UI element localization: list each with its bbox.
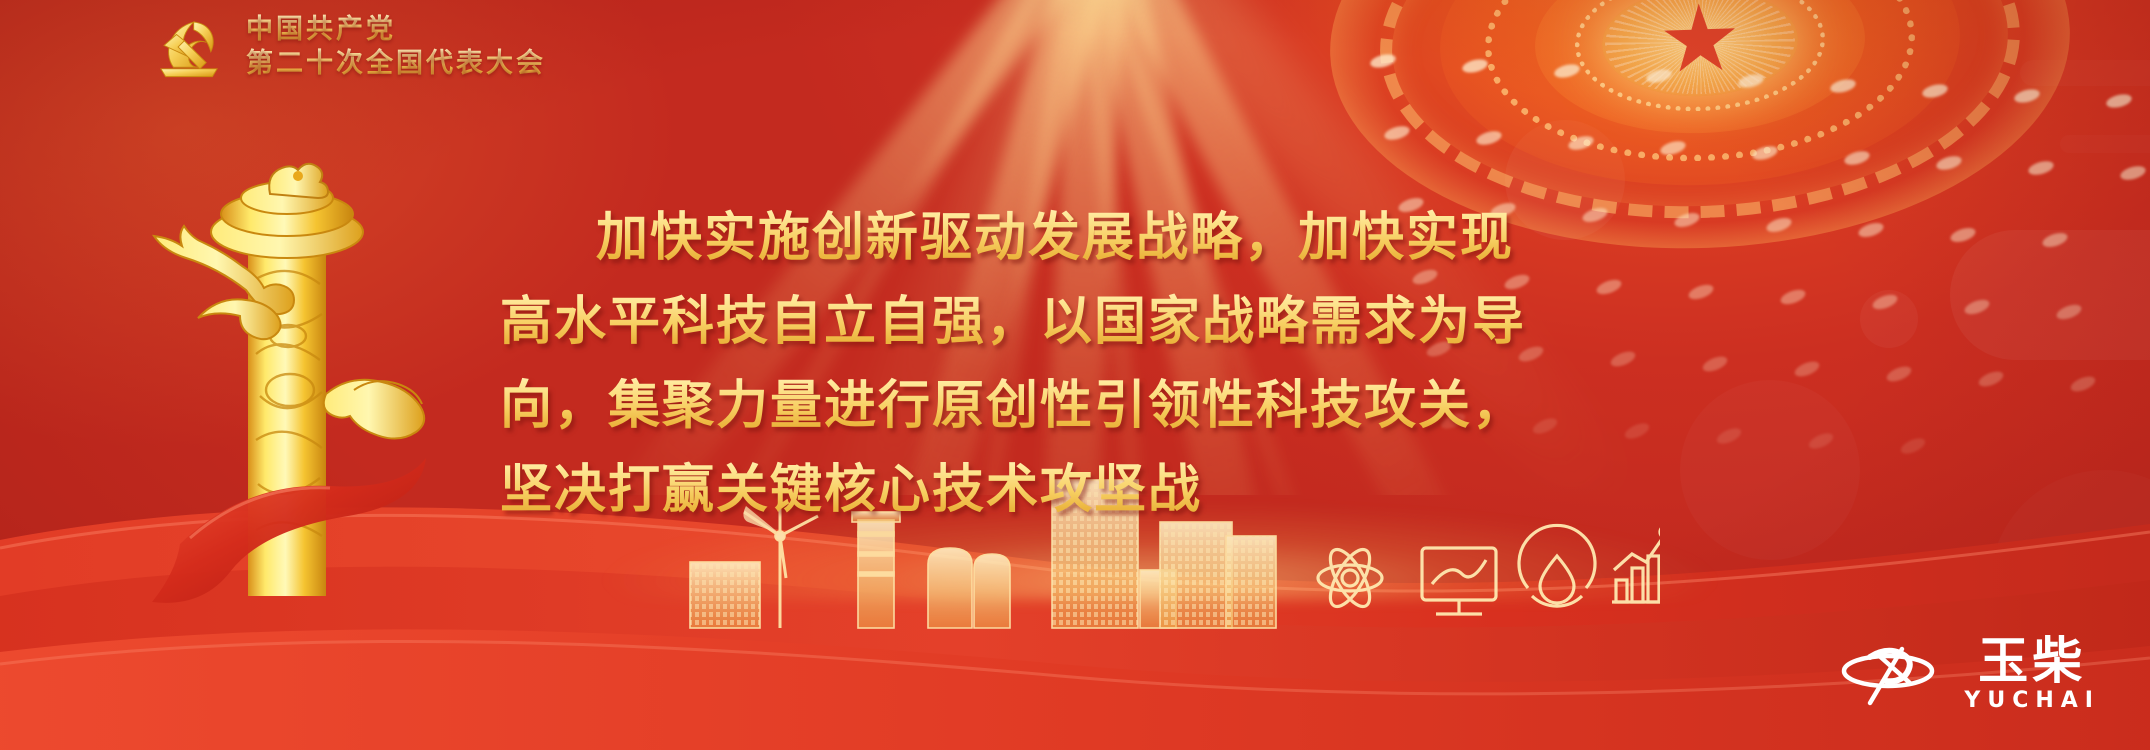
congress-title-line2: 第二十次全国代表大会 [246,48,546,80]
slogan-line-4: 坚决打赢关键核心技术攻坚战 [500,448,1730,532]
slogan-line-1: 加快实施创新驱动发展战略，加快实现 [500,196,1730,280]
slogan-line-2: 高水平科技自立自强，以国家战略需求为导 [500,280,1730,364]
yuchai-swoosh-mark [1840,639,1948,709]
congress-header-lockup: 中国共产党 第二十次全国代表大会 [150,8,546,86]
yuchai-english-name: YUCHAI [1964,690,2100,712]
congress-title-line1: 中国共产党 [246,14,546,46]
slogan-line-3: 向，集聚力量进行原创性引领性科技攻关， [500,364,1730,448]
slogan-block: 加快实施创新驱动发展战略，加快实现 高水平科技自立自强，以国家战略需求为导 向，… [500,196,1730,532]
huabiao-pillar [120,140,450,610]
yuchai-logo: 玉柴 YUCHAI [1840,636,2100,712]
yuchai-chinese-name: 玉柴 [1978,636,2086,686]
hammer-and-sickle-emblem [150,8,228,86]
propaganda-banner: 中国共产党 第二十次全国代表大会 加快实施创新驱动发展战略，加快实现 高水平科技… [0,0,2150,750]
